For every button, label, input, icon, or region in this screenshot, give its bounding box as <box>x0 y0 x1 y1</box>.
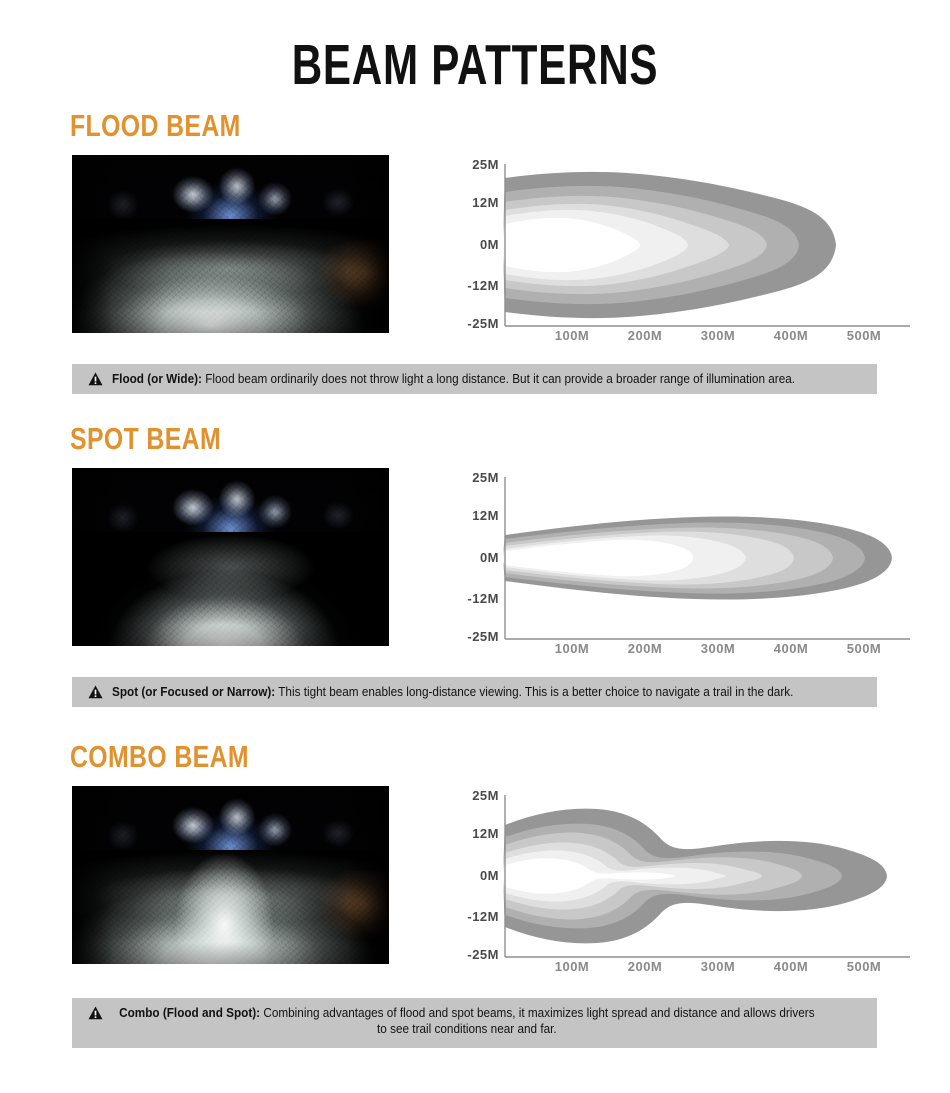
y-tick-label: 25M <box>472 788 499 803</box>
caption-lead: Flood (or Wide): <box>112 372 202 386</box>
warning-triangle-icon <box>88 1006 103 1020</box>
beam-contours-combo <box>503 809 887 944</box>
y-tick-labels: 25M 12M 0M -12M -25M <box>467 470 499 644</box>
section-heading-combo: COMBO BEAM <box>70 741 249 773</box>
y-tick-label: -25M <box>467 947 499 962</box>
vignette <box>72 155 389 333</box>
warning-triangle-icon <box>88 372 103 386</box>
y-tick-label: 0M <box>480 237 499 252</box>
beam-hotspot <box>502 229 578 261</box>
y-tick-label: 0M <box>480 868 499 883</box>
x-tick-label: 400M <box>774 959 809 971</box>
section-heading-flood: FLOOD BEAM <box>70 110 241 142</box>
beam-hotspot <box>503 864 587 888</box>
x-tick-label: 200M <box>628 959 663 971</box>
x-tick-label: 500M <box>847 959 882 971</box>
y-tick-label: -25M <box>467 629 499 644</box>
caption-body: Flood beam ordinarily does not throw lig… <box>202 372 795 386</box>
vignette <box>72 468 389 646</box>
x-tick-label: 300M <box>701 328 736 340</box>
beam-photo-spot <box>72 468 389 646</box>
beam-photo-flood <box>72 155 389 333</box>
x-tick-label: 400M <box>774 641 809 653</box>
beam-contours-flood <box>502 172 836 318</box>
x-tick-label: 100M <box>555 328 590 340</box>
x-tick-label: 100M <box>555 641 590 653</box>
y-tick-label: 25M <box>472 470 499 485</box>
x-tick-labels: 100M 200M 300M 400M 500M <box>555 328 882 340</box>
caption-bar-combo: Combo (Flood and Spot): Combining advant… <box>72 998 877 1048</box>
caption-body: Combining advantages of flood and spot b… <box>260 1006 815 1036</box>
beam-chart-svg: 25M 12M 0M -12M -25M 100M 200M 300M 400M… <box>455 150 915 340</box>
beam-chart-svg: 25M 12M 0M -12M -25M 100M 200M 300M 400M… <box>455 463 915 653</box>
y-tick-label: -25M <box>467 316 499 331</box>
beam-chart-flood: 25M 12M 0M -12M -25M 100M 200M 300M 400M… <box>455 150 915 340</box>
x-tick-labels: 100M 200M 300M 400M 500M <box>555 641 882 653</box>
caption-lead: Combo (Flood and Spot): <box>119 1006 260 1020</box>
x-tick-label: 200M <box>628 328 663 340</box>
x-tick-label: 400M <box>774 328 809 340</box>
x-tick-label: 500M <box>847 641 882 653</box>
x-tick-label: 300M <box>701 959 736 971</box>
x-tick-labels: 100M 200M 300M 400M 500M <box>555 959 882 971</box>
y-tick-labels: 25M 12M 0M -12M -25M <box>467 157 499 331</box>
caption-text-spot: Spot (or Focused or Narrow): This tight … <box>112 684 818 700</box>
photo-layers <box>72 155 389 333</box>
y-tick-label: 0M <box>480 550 499 565</box>
x-tick-label: 200M <box>628 641 663 653</box>
y-tick-label: -12M <box>467 278 499 293</box>
beam-hotspot <box>505 549 615 567</box>
caption-bar-flood: Flood (or Wide): Flood beam ordinarily d… <box>72 364 877 394</box>
y-tick-label: 12M <box>472 195 499 210</box>
warning-triangle-icon <box>88 685 103 699</box>
x-tick-label: 300M <box>701 641 736 653</box>
beam-chart-combo: 25M 12M 0M -12M -25M 100M 200M 300M 400M… <box>455 781 915 971</box>
x-tick-label: 500M <box>847 328 882 340</box>
caption-text-flood: Flood (or Wide): Flood beam ordinarily d… <box>112 371 818 387</box>
photo-layers <box>72 468 389 646</box>
caption-lead: Spot (or Focused or Narrow): <box>112 685 275 699</box>
x-tick-label: 100M <box>555 959 590 971</box>
caption-text-combo: Combo (Flood and Spot): Combining advant… <box>112 1005 818 1037</box>
beam-chart-spot: 25M 12M 0M -12M -25M 100M 200M 300M 400M… <box>455 463 915 653</box>
vignette <box>72 786 389 964</box>
beam-photo-combo <box>72 786 389 964</box>
y-tick-label: 12M <box>472 508 499 523</box>
beam-patterns-page: { "page": { "title": "BEAM PATTERNS", "b… <box>0 0 950 1093</box>
page-title: BEAM PATTERNS <box>124 36 827 94</box>
caption-body: This tight beam enables long-distance vi… <box>275 685 793 699</box>
beam-contours-spot <box>504 517 893 600</box>
y-tick-label: -12M <box>467 591 499 606</box>
caption-bar-spot: Spot (or Focused or Narrow): This tight … <box>72 677 877 707</box>
y-tick-label: 25M <box>472 157 499 172</box>
y-tick-label: 12M <box>472 826 499 841</box>
y-tick-label: -12M <box>467 909 499 924</box>
section-heading-spot: SPOT BEAM <box>70 423 221 455</box>
beam-chart-svg: 25M 12M 0M -12M -25M 100M 200M 300M 400M… <box>455 781 915 971</box>
photo-layers <box>72 786 389 964</box>
y-tick-labels: 25M 12M 0M -12M -25M <box>467 788 499 962</box>
